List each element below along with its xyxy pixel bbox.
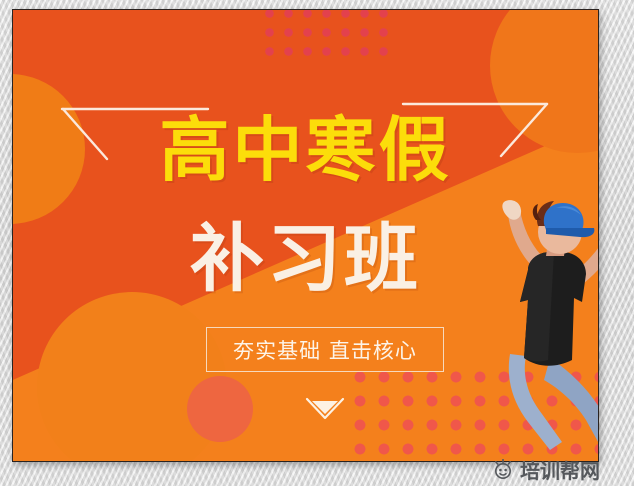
poster-card: 高中寒假 补习班 夯实基础 直击核心	[12, 9, 599, 462]
jumping-student-illustration	[476, 198, 599, 462]
subtitle-text: 夯实基础 直击核心	[233, 335, 417, 365]
subtitle-box: 夯实基础 直击核心	[206, 327, 444, 372]
poster-title-line-1: 高中寒假	[13, 115, 598, 185]
chevron-down-icon	[304, 396, 346, 424]
watermark-text: 培训帮网	[520, 455, 600, 484]
watermark: 培训帮网	[492, 455, 600, 484]
smiley-sun-icon	[492, 459, 514, 481]
page-backdrop: 高中寒假 补习班 夯实基础 直击核心	[0, 0, 634, 486]
